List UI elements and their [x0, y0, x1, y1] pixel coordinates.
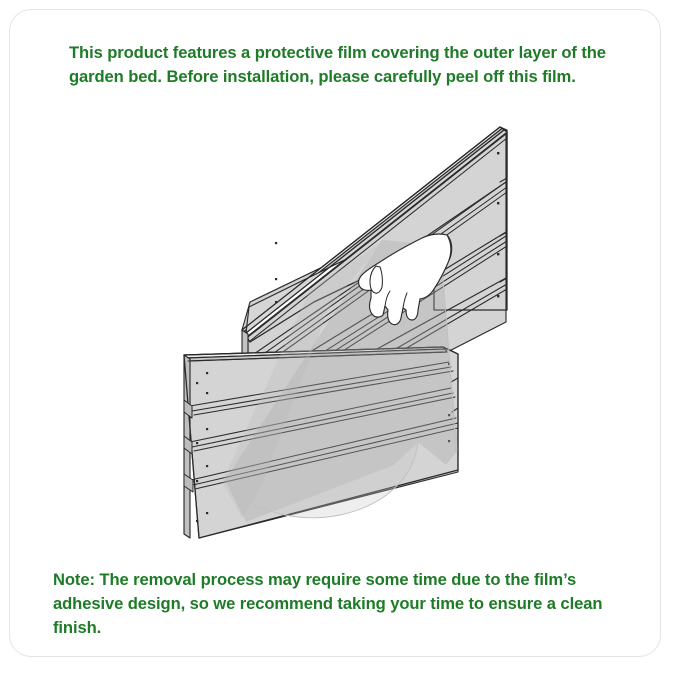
footer-note-text: Note: The removal process may require so… — [53, 568, 633, 641]
garden-bed-film-peel-diagram — [10, 10, 661, 657]
instruction-card: This product features a protective film … — [9, 9, 661, 657]
